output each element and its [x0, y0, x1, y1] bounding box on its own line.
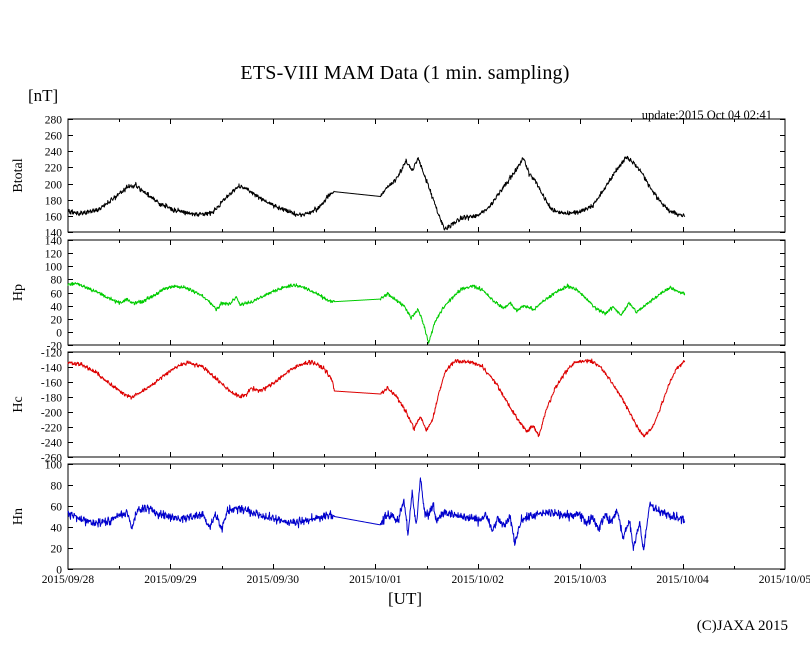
y-tick-label: 0 [56, 328, 62, 340]
y-tick-label: 120 [45, 249, 63, 261]
y-tick-label: -180 [41, 393, 62, 405]
y-axis-label: Hp [11, 284, 26, 301]
y-tick-label: 80 [51, 275, 63, 287]
x-tick-label: 2015/10/05 [759, 574, 810, 586]
y-axis-label: Btotal [11, 158, 26, 192]
panel-hc: -260-240-220-200-180-160-140-120Hc [11, 348, 785, 465]
y-tick-label: 160 [45, 212, 63, 224]
y-tick-label: 200 [45, 180, 63, 192]
y-tick-label: 180 [45, 196, 63, 208]
y-axis-label: Hn [11, 508, 26, 525]
copyright-label: (C)JAXA 2015 [697, 618, 788, 635]
panel-btotal: 140160180200220240260280Btotal [11, 115, 785, 240]
y-tick-label: 100 [45, 262, 63, 274]
y-tick-label: 60 [51, 502, 63, 514]
y-tick-label: 240 [45, 147, 63, 159]
panel-hn: 020406080100Hn [11, 460, 785, 577]
data-trace-hp [68, 282, 685, 343]
y-tick-label: 80 [51, 481, 63, 493]
x-axis-label: [UT] [0, 589, 810, 609]
y-tick-label: 260 [45, 131, 63, 143]
chart-figure: ETS-VIII MAM Data (1 min. sampling) [nT]… [0, 0, 810, 655]
y-axis-label: Hc [11, 396, 26, 412]
chart-title: ETS-VIII MAM Data (1 min. sampling) [0, 62, 810, 85]
y-tick-label: -120 [41, 348, 62, 360]
y-tick-label: 220 [45, 163, 63, 175]
panel-hp: -20020406080100120140Hp [11, 236, 785, 353]
x-tick-label: 2015/10/03 [554, 574, 607, 586]
y-tick-label: 60 [51, 289, 63, 301]
y-tick-label: -200 [41, 408, 62, 420]
y-tick-label: 40 [51, 302, 63, 314]
y-tick-label: -160 [41, 378, 62, 390]
panel-frame [68, 240, 785, 345]
plot-area: 140160180200220240260280Btotal-200204060… [0, 0, 810, 655]
y-tick-label: 140 [45, 236, 63, 248]
x-tick-label: 2015/10/01 [349, 574, 402, 586]
y-tick-label: 20 [51, 315, 63, 327]
y-tick-label: 280 [45, 115, 63, 127]
x-tick-label: 2015/10/02 [452, 574, 505, 586]
data-trace-btotal [68, 156, 685, 230]
x-tick-label: 2015/09/28 [42, 574, 95, 586]
x-tick-label: 2015/09/29 [144, 574, 197, 586]
x-tick-label: 2015/09/30 [247, 574, 300, 586]
y-tick-label: 40 [51, 523, 63, 535]
y-tick-label: 100 [45, 460, 63, 472]
y-unit-label: [nT] [28, 86, 58, 106]
y-tick-label: -140 [41, 363, 62, 375]
data-trace-hc [68, 359, 685, 437]
y-tick-label: -220 [41, 423, 62, 435]
x-tick-label: 2015/10/04 [656, 574, 709, 586]
y-tick-label: -240 [41, 438, 62, 450]
update-timestamp-label: update:2015 Oct 04 02:41 [642, 108, 772, 123]
data-trace-hn [68, 478, 685, 551]
y-tick-label: 20 [51, 544, 63, 556]
